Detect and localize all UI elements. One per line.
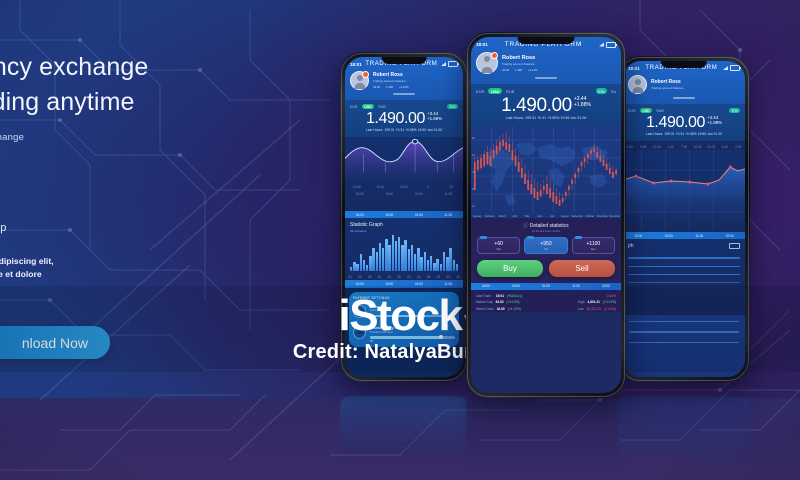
currency-switcher[interactable]: EUR USD RUB E% Ru <box>476 88 616 94</box>
price-deltas: +3.44 +1.88% <box>574 96 591 108</box>
month-tick: June <box>534 215 547 218</box>
stat-card-value: +950 <box>527 241 564 247</box>
time-tab[interactable]: 04:00 <box>471 283 501 290</box>
user-metric-2: 1.490 <box>515 68 522 72</box>
time-tab[interactable]: 22:00 <box>591 283 621 290</box>
time-tab[interactable]: 15:00 <box>501 283 531 290</box>
vignette <box>0 0 800 480</box>
row-change: (+4.12%) <box>506 300 519 304</box>
month-tick: September <box>571 215 584 218</box>
notification-badge <box>491 52 498 59</box>
candlestick-chart: 50 40 30 20 10 JanuaryFebruaryMarchApril… <box>471 126 621 218</box>
market-table: Last Trade : 19:01 (^$144.41) -0.44% Mar… <box>471 290 621 312</box>
row-label: Last Trade : <box>476 294 493 298</box>
last-hours-value: 199.31 +0.31 +0.85% 19:55 Jan 01.06 <box>525 116 586 120</box>
trade-actions: Buy Sell <box>471 254 621 281</box>
stat-cards: +60 Sep +950 Okt +1100 Nov <box>471 233 621 254</box>
stat-card-value: +60 <box>480 241 517 247</box>
price-row: 1.490.00 +3.44 +1.88% <box>476 96 616 115</box>
detailed-stats-section: ⓘ Detailed statistics for the last three… <box>471 218 621 283</box>
row-value: 19:01 <box>496 294 504 298</box>
currency-eur[interactable]: EUR <box>476 89 484 94</box>
drag-handle[interactable] <box>535 77 557 79</box>
y-axis-labels: 50 40 30 20 10 <box>472 130 475 215</box>
battery-icon <box>606 42 616 48</box>
card-tag-icon <box>527 236 534 239</box>
stat-card-sep[interactable]: +60 Sep <box>477 237 520 254</box>
currency-usd[interactable]: USD <box>488 88 501 94</box>
time-tab[interactable]: 11:00 <box>561 283 591 290</box>
month-tick: July <box>546 215 559 218</box>
rate-badge: E% <box>596 88 607 94</box>
phone-notch <box>382 57 427 64</box>
month-tick: May <box>521 215 534 218</box>
time-axis-center[interactable]: 04:00 15:00 01:00 11:00 22:00 <box>471 283 621 290</box>
user-info: Robert Ross Trading account balance 34.0… <box>502 55 538 72</box>
table-row: Mined Coins 34.00 (+4.12%) Low $1,421.33… <box>476 305 616 311</box>
card-tag-icon <box>575 236 582 239</box>
row-value-2: $1,421.33 <box>587 307 601 311</box>
month-tick: February <box>484 215 497 218</box>
world-map <box>488 142 608 206</box>
status-icons <box>599 42 616 48</box>
last-hours-row: Last Hours: 199.31 +0.31 +0.85% 19:55 Ja… <box>476 116 616 120</box>
row-change-2: -0.44% <box>606 294 616 298</box>
buy-button[interactable]: Buy <box>477 260 543 277</box>
stat-card-okt[interactable]: +950 Okt <box>524 237 567 254</box>
month-tick: April <box>509 215 522 218</box>
stat-card-month: Nov <box>575 248 612 251</box>
detailed-statistics-title: ⓘ Detailed statistics <box>471 218 621 230</box>
month-axis: JanuaryFebruaryMarchAprilMayJuneJulyAugu… <box>471 215 621 218</box>
y-tick: 50 <box>472 130 475 147</box>
signal-icon <box>599 43 604 47</box>
user-row[interactable]: Robert Ross Trading account balance 34.0… <box>476 52 616 74</box>
month-tick: October <box>584 215 597 218</box>
watermark-band <box>0 286 800 372</box>
poster-stage: urrency exchange , trading anytime ons f… <box>0 0 800 480</box>
status-time: 18:01 <box>476 42 488 47</box>
stat-card-value: +1100 <box>575 241 612 247</box>
row-label-2: Low <box>578 307 584 311</box>
row-value: 34.00 <box>497 307 505 311</box>
user-subtitle: Trading account balance <box>502 62 538 66</box>
user-name: Robert Ross <box>502 55 535 61</box>
phone-notch <box>518 37 575 44</box>
detailed-statistics-label: Detailed statistics <box>530 223 569 229</box>
time-tab[interactable]: 01:00 <box>531 283 561 290</box>
avatar <box>476 52 498 74</box>
month-tick: March <box>496 215 509 218</box>
screen-center-content: 18:01 TRADING PLATFORM Robert Ross <box>471 37 621 393</box>
stat-card-nov[interactable]: +1100 Nov <box>572 237 615 254</box>
stat-card-month: Sep <box>480 248 517 251</box>
card-tag-icon <box>480 236 487 239</box>
phone-center: 18:01 TRADING PLATFORM Robert Ross <box>466 32 626 398</box>
sell-button[interactable]: Sell <box>549 260 615 277</box>
row-change: (+4.12%) <box>508 307 521 311</box>
last-hours-label: Last Hours: <box>506 116 524 120</box>
stat-card-month: Okt <box>527 248 564 251</box>
row-change-2: (+4.12%) <box>603 300 616 304</box>
phone-notch <box>661 61 707 68</box>
price-value: 1.490.00 <box>501 96 572 115</box>
rate-badge-2: Ru <box>611 89 616 94</box>
row-value-2: 4,801.21 <box>588 300 600 304</box>
quote-block-center: EUR USD RUB E% Ru 1.490.00 +3.44 +1.88% <box>471 84 621 126</box>
row-label: Market Cap <box>476 300 492 304</box>
user-metric-1: 34.00 <box>502 68 509 72</box>
month-tick: December <box>609 215 622 218</box>
y-tick: 40 <box>472 147 475 164</box>
row-change: (^$144.41) <box>507 294 522 298</box>
row-value: 34.00 <box>495 300 503 304</box>
row-label: Mined Coins <box>476 307 494 311</box>
y-tick: 30 <box>472 164 475 181</box>
y-tick: 10 <box>472 198 475 215</box>
phone-center-screen: 18:01 TRADING PLATFORM Robert Ross <box>471 37 621 393</box>
currency-rub[interactable]: RUB <box>506 89 514 94</box>
delta-percent: +1.88% <box>574 102 591 108</box>
row-label-2: High <box>578 300 585 304</box>
month-tick: August <box>559 215 572 218</box>
user-metric-3: +4.12% <box>528 68 538 72</box>
info-icon: ⓘ <box>523 223 528 229</box>
month-tick: January <box>471 215 484 218</box>
app-header-center: 18:01 TRADING PLATFORM Robert Ross <box>471 37 621 84</box>
user-metrics: 34.00 1.490 +4.12% <box>502 68 538 72</box>
row-change-2: (-1.41%) <box>604 307 616 311</box>
y-tick: 20 <box>472 181 475 198</box>
month-tick: November <box>596 215 609 218</box>
